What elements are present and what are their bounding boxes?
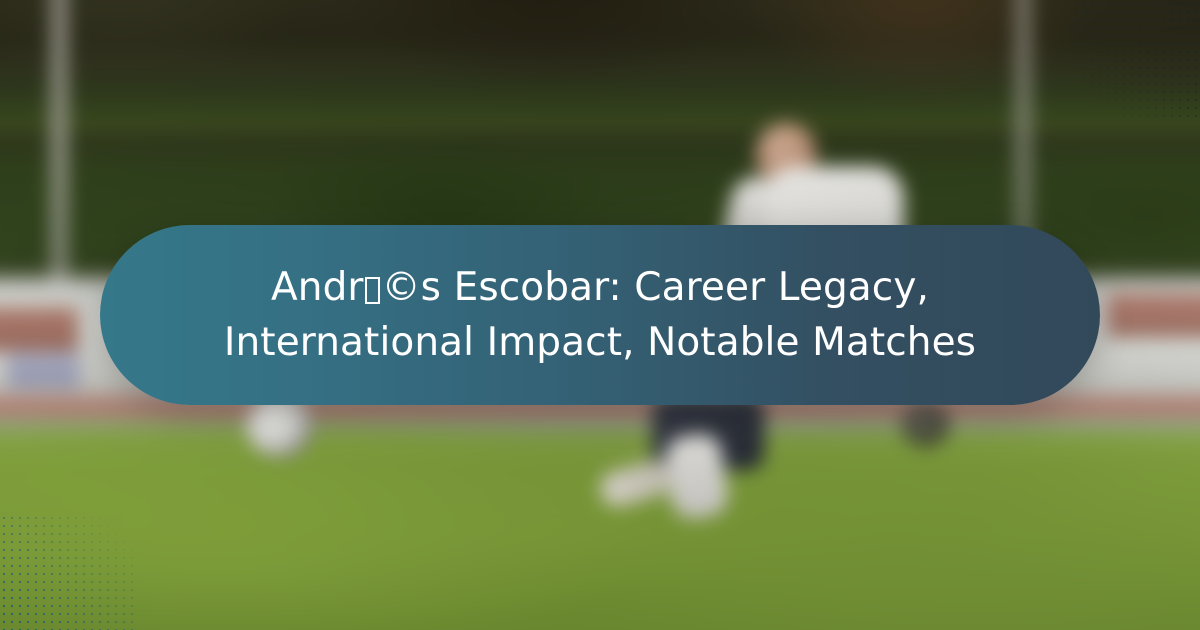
dot-grid-bottom-left-icon <box>0 514 136 630</box>
title-segment-before-glyph: Andr <box>271 265 364 310</box>
title-line-two: International Impact, Notable Matches <box>224 320 976 365</box>
title-segment-after-glyph: ©s Escobar: Career Legacy, <box>382 265 929 310</box>
page-title: Andr©s Escobar: Career Legacy, Internati… <box>170 260 1030 371</box>
dot-grid-top-right-icon <box>1072 0 1200 118</box>
title-card: Andr©s Escobar: Career Legacy, Internati… <box>100 225 1100 405</box>
tofu-missing-glyph-box-icon <box>365 277 380 304</box>
social-share-card: Andr©s Escobar: Career Legacy, Internati… <box>0 0 1200 630</box>
